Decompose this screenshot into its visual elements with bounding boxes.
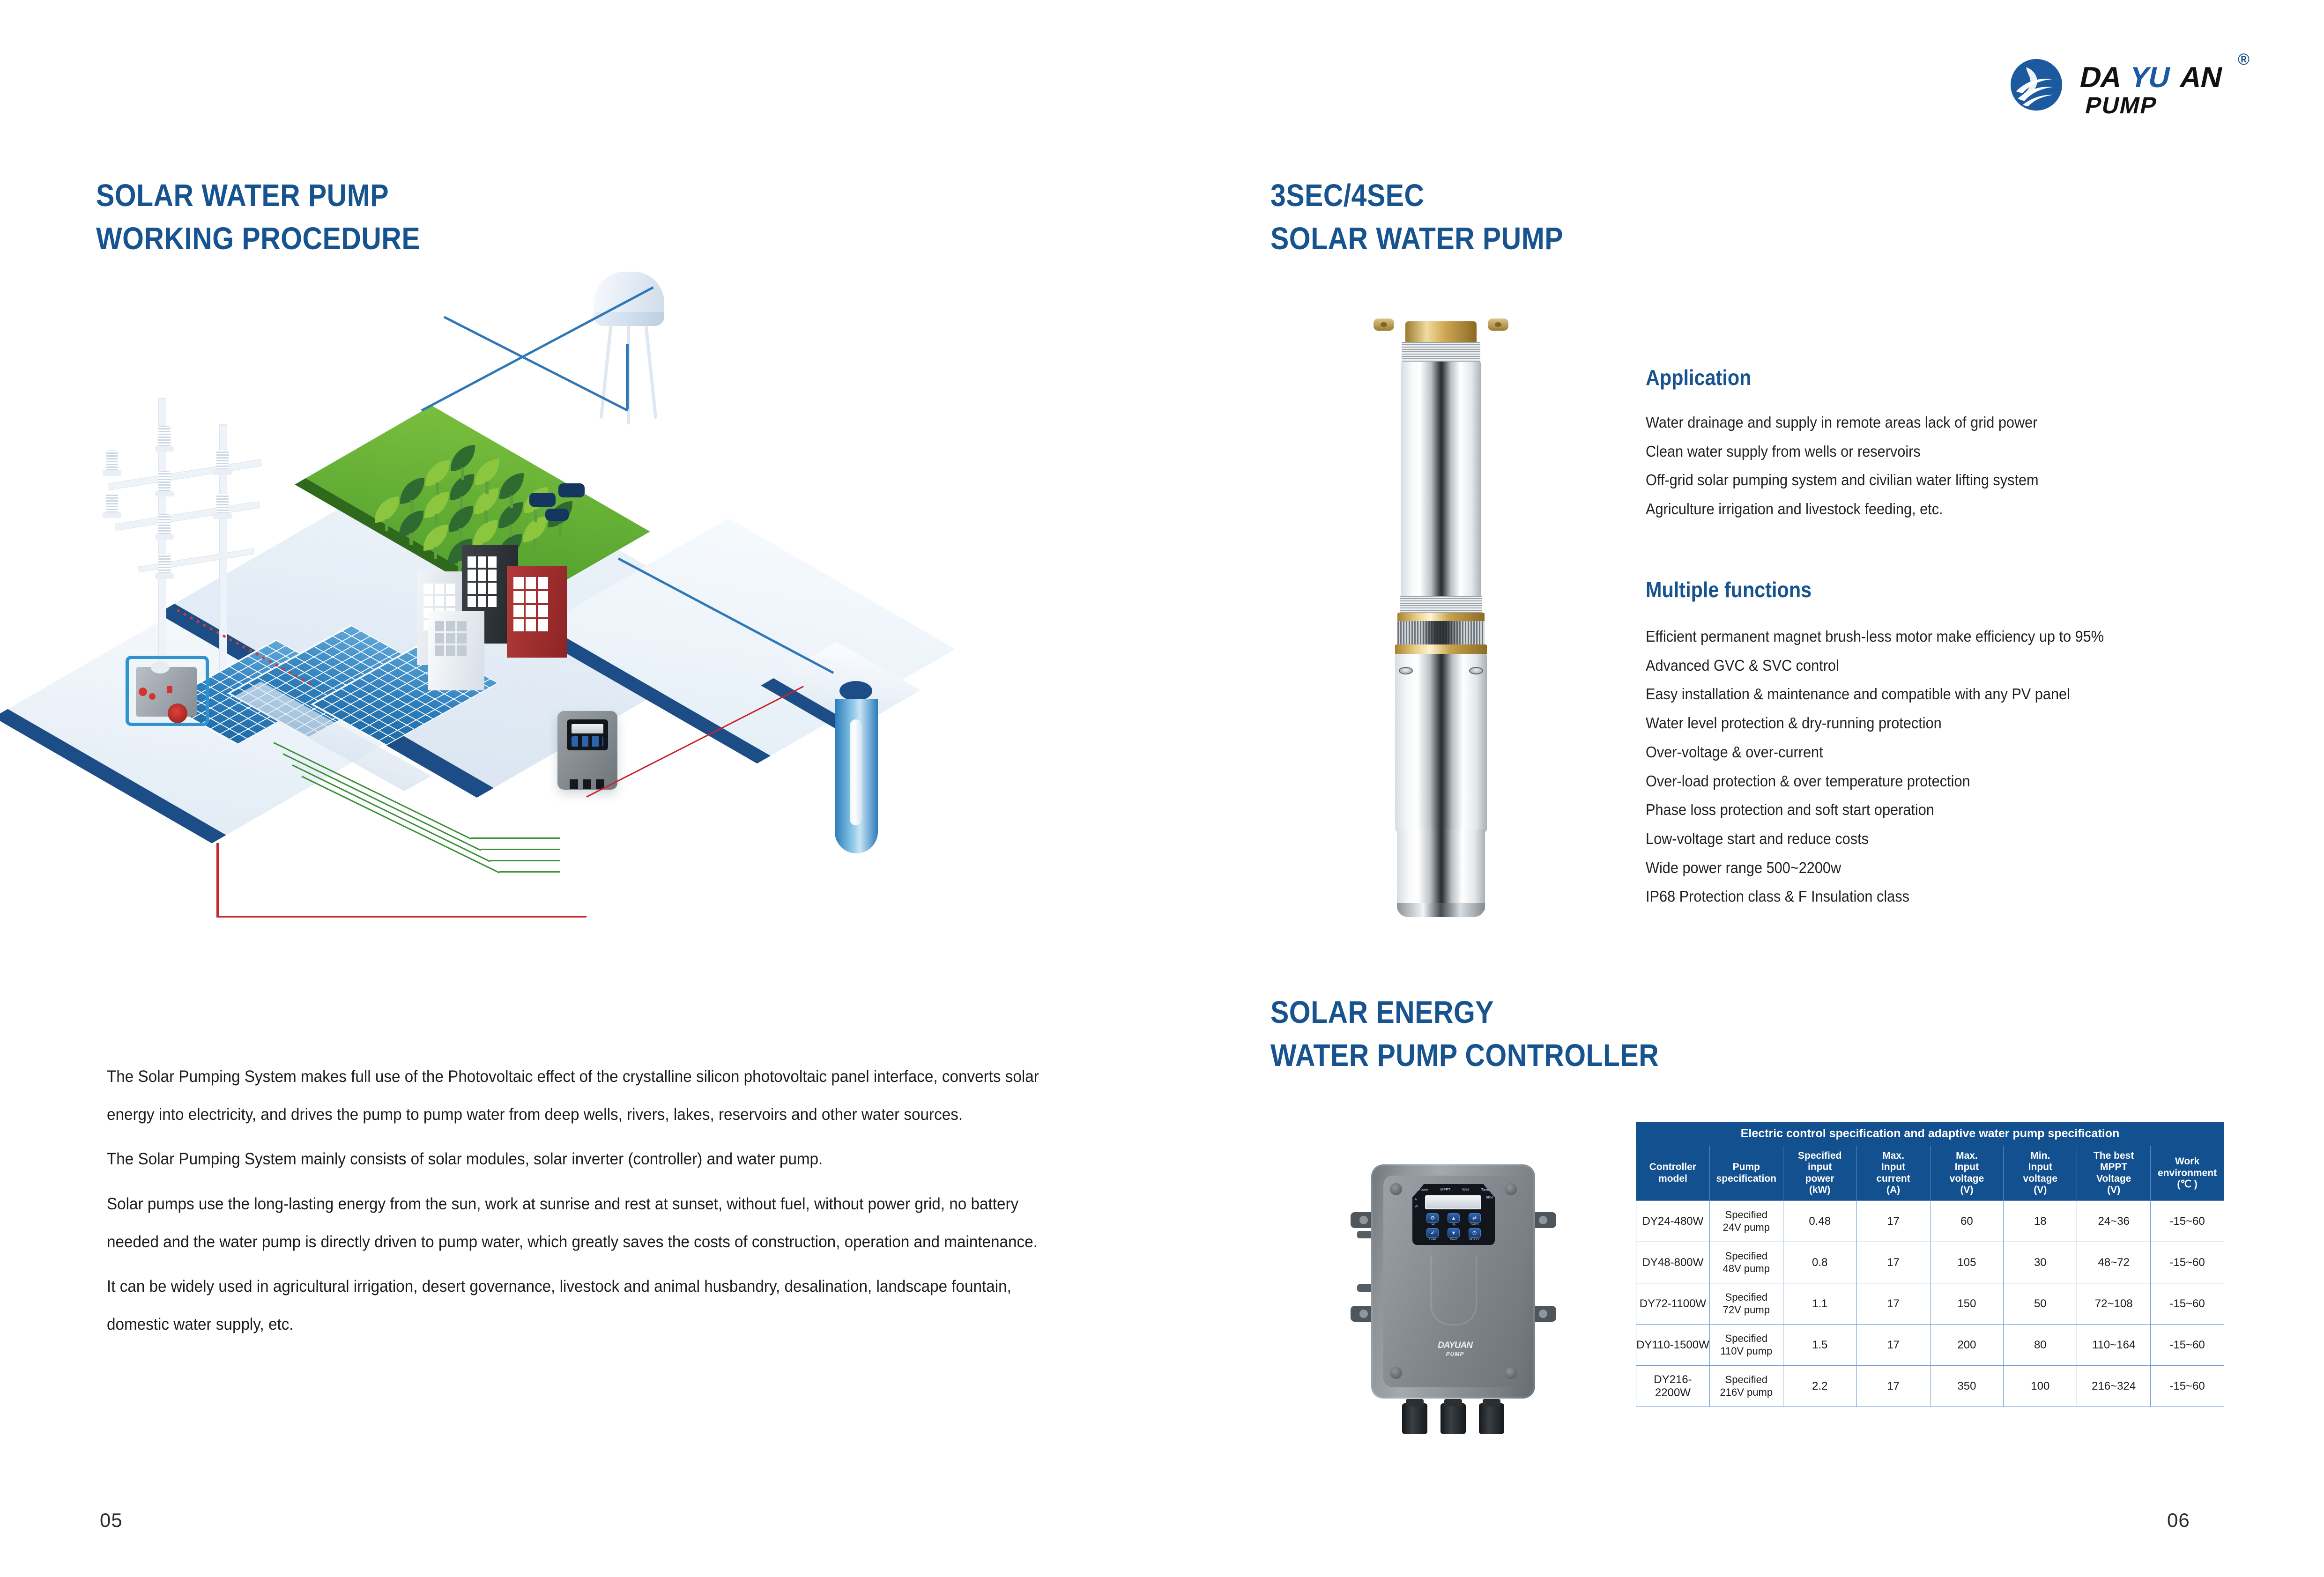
power-icon: ⏻ <box>1469 1228 1481 1238</box>
col-mppt-voltage: The best MPPT Voltage (V) <box>2077 1146 2151 1201</box>
cell-pump-spec: Specified 110V pump <box>1709 1325 1783 1366</box>
cell-env: -15~60 <box>2151 1283 2224 1325</box>
lcd-display <box>1425 1195 1481 1209</box>
table-row: DY24-480W Specified 24V pump 0.48 17 60 … <box>1636 1201 2224 1242</box>
cell-power: 1.5 <box>1783 1325 1856 1366</box>
cable-gland-2 <box>1440 1403 1466 1434</box>
cell-vmin: 30 <box>2004 1242 2077 1283</box>
cell-pump-spec: Specified 24V pump <box>1709 1201 1783 1242</box>
cell-current: 17 <box>1856 1201 1930 1242</box>
cell-vmin: 50 <box>2004 1283 2077 1325</box>
col-input-current: Max. Input current (A) <box>1856 1146 1930 1201</box>
bolt-tr <box>1505 1183 1517 1195</box>
control-panel: Power MPPT Well Tank A W RPM ⚙ Set ▲ Up <box>1412 1184 1495 1245</box>
pump-cable-vertical <box>216 843 219 917</box>
col-controller-model: Controller model <box>1636 1146 1710 1201</box>
controller-section-title: SOLAR ENERGY WATER PUMP CONTROLLER <box>1270 991 1930 1078</box>
table-row: DY72-1100W Specified 72V pump 1.1 17 150… <box>1636 1283 2224 1325</box>
paragraph-4: It can be widely used in agricultural ir… <box>107 1267 1055 1343</box>
functions-heading: Multiple functions <box>1646 577 1812 602</box>
key-down[interactable]: ▼ Down <box>1445 1228 1463 1241</box>
function-item: Over-voltage & over-current <box>1646 738 2282 767</box>
svg-text:AN: AN <box>2177 61 2225 94</box>
cell-model: DY48-800W <box>1636 1242 1710 1283</box>
application-heading: Application <box>1646 365 1751 390</box>
arrow-down-icon: ▼ <box>1448 1228 1460 1238</box>
cell-mppt: 72~108 <box>2077 1283 2151 1325</box>
cell-model: DY72-1100W <box>1636 1283 1710 1325</box>
cell-pump-spec: Specified 72V pump <box>1709 1283 1783 1325</box>
bolt-bl <box>1390 1367 1402 1379</box>
table-row: DY110-1500W Specified 110V pump 1.5 17 2… <box>1636 1325 2224 1366</box>
cell-current: 17 <box>1856 1283 1930 1325</box>
application-item: Off-grid solar pumping system and civili… <box>1646 466 2265 495</box>
cell-vmax: 200 <box>1930 1325 2004 1366</box>
cell-mppt: 24~36 <box>2077 1201 2151 1242</box>
function-item: Advanced GVC & SVC control <box>1646 651 2282 680</box>
key-switch[interactable]: ⇄ Switch <box>1465 1213 1484 1226</box>
cell-mppt: 216~324 <box>2077 1366 2151 1407</box>
function-item: Phase loss protection and soft start ope… <box>1646 795 2282 824</box>
bolt-tl <box>1390 1183 1402 1195</box>
pv-cable-3h <box>490 860 560 861</box>
key-up[interactable]: ▲ Up <box>1445 1213 1463 1226</box>
page-title-right: 3SEC/4SEC SOLAR WATER PUMP <box>1270 174 1889 261</box>
water-pipe <box>626 344 629 409</box>
controller-brand-mark: DAYUAN PUMP <box>1429 1340 1481 1357</box>
cell-power: 2.2 <box>1783 1366 1856 1407</box>
cell-vmin: 100 <box>2004 1366 2077 1407</box>
cell-env: -15~60 <box>2151 1201 2224 1242</box>
cell-pump-spec: Specified 216V pump <box>1709 1366 1783 1407</box>
function-item: Easy installation & maintenance and comp… <box>1646 680 2282 709</box>
led-mppt: MPPT <box>1440 1187 1451 1192</box>
submersible-pump-photo <box>1358 317 1524 944</box>
unit-rpm: RPM <box>1485 1196 1493 1199</box>
solar-pump-controller-photo: Power MPPT Well Tank A W RPM ⚙ Set ▲ Up <box>1347 1157 1560 1447</box>
pump-cable-horizontal <box>216 916 587 918</box>
col-work-environment: Work environment (℃ ) <box>2151 1146 2224 1201</box>
paragraph-2: The Solar Pumping System mainly consists… <box>107 1140 1055 1178</box>
cell-vmax: 60 <box>1930 1201 2004 1242</box>
solar-pumping-system-diagram <box>94 328 1120 984</box>
cell-pump-spec: Specified 48V pump <box>1709 1242 1783 1283</box>
function-item: Water level protection & dry-running pro… <box>1646 709 2282 738</box>
status-led-row: Power MPPT Well Tank <box>1412 1187 1495 1192</box>
col-min-input-voltage: Min. Input voltage (V) <box>2004 1146 2077 1201</box>
pv-cable-2h <box>481 849 560 850</box>
cell-current: 17 <box>1856 1325 1930 1366</box>
col-input-power: Specified input power (kW) <box>1783 1146 1856 1201</box>
function-item: IP68 Protection class & F Insulation cla… <box>1646 882 2282 911</box>
pv-cable-1h <box>471 837 560 839</box>
key-enter[interactable]: ✔ Enter <box>1424 1228 1442 1241</box>
cell-vmin: 80 <box>2004 1325 2077 1366</box>
deep-well-borehole <box>786 649 927 865</box>
dayuan-logo: DA YU AN PUMP ® <box>2009 51 2252 121</box>
bolt-br <box>1505 1367 1517 1379</box>
function-item: Wide power range 500~2200w <box>1646 853 2282 882</box>
arrow-up-icon: ▲ <box>1448 1213 1460 1223</box>
page-title-left: SOLAR WATER PUMP WORKING PROCEDURE <box>96 174 714 261</box>
switch-arrows-icon: ⇄ <box>1469 1213 1481 1223</box>
unit-watt: W <box>1415 1203 1418 1210</box>
table-body: DY24-480W Specified 24V pump 0.48 17 60 … <box>1636 1201 2224 1407</box>
led-well: Well <box>1463 1187 1470 1192</box>
cell-vmax: 350 <box>1930 1366 2004 1407</box>
functions-list: Efficient permanent magnet brush-less mo… <box>1646 622 2282 911</box>
office-buildings <box>417 529 642 707</box>
application-item: Agriculture irrigation and livestock fee… <box>1646 495 2265 524</box>
cell-vmax: 105 <box>1930 1242 2004 1283</box>
col-pump-spec: Pump specification <box>1709 1146 1783 1201</box>
registered-trademark-icon: ® <box>2238 51 2250 69</box>
keypad[interactable]: ⚙ Set ▲ Up ⇄ Switch ✔ Enter ▼ Down <box>1424 1213 1484 1241</box>
cell-vmin: 18 <box>2004 1201 2077 1242</box>
col-max-input-voltage: Max. Input voltage (V) <box>1930 1146 2004 1201</box>
gear-icon: ⚙ <box>1426 1213 1439 1223</box>
table-caption: Electric control specification and adapt… <box>1636 1123 2224 1146</box>
cell-mppt: 110~164 <box>2077 1325 2151 1366</box>
table-header-row: Controller model Pump specification Spec… <box>1636 1146 2224 1201</box>
cell-env: -15~60 <box>2151 1242 2224 1283</box>
cell-power: 0.48 <box>1783 1201 1856 1242</box>
pv-cable-4h <box>499 871 560 873</box>
paragraph-1: The Solar Pumping System makes full use … <box>107 1058 1055 1133</box>
diesel-generator <box>118 651 226 745</box>
function-item: Over-load protection & over temperature … <box>1646 767 2282 796</box>
svg-text:DA: DA <box>2077 61 2125 94</box>
cell-model: DY24-480W <box>1636 1201 1710 1242</box>
brochure-page: DA YU AN PUMP ® SOLAR WATER PUMP WORKING… <box>0 0 2324 1577</box>
page-number-right: 06 <box>2167 1509 2190 1532</box>
cable-gland-1 <box>1402 1403 1427 1434</box>
spec-table: Electric control specification and adapt… <box>1636 1122 2224 1407</box>
cows-livestock <box>529 477 604 533</box>
key-set[interactable]: ⚙ Set <box>1424 1213 1442 1226</box>
housing-groove <box>1430 1255 1477 1325</box>
unit-ampere: A <box>1415 1196 1418 1203</box>
table-row: DY216-2200W Specified 216V pump 2.2 17 3… <box>1636 1366 2224 1407</box>
function-item: Efficient permanent magnet brush-less mo… <box>1646 622 2282 651</box>
table-row: DY48-800W Specified 48V pump 0.8 17 105 … <box>1636 1242 2224 1283</box>
body-copy: The Solar Pumping System makes full use … <box>107 1058 1055 1350</box>
page-number-left: 05 <box>100 1509 123 1532</box>
application-item: Clean water supply from wells or reservo… <box>1646 437 2265 466</box>
wave-circle-icon <box>2009 57 2064 112</box>
svg-text:YU: YU <box>2127 61 2173 94</box>
cell-power: 1.1 <box>1783 1283 1856 1325</box>
cell-current: 17 <box>1856 1242 1930 1283</box>
cell-mppt: 48~72 <box>2077 1242 2151 1283</box>
function-item: Low-voltage start and reduce costs <box>1646 824 2282 853</box>
cell-model: DY216-2200W <box>1636 1366 1710 1407</box>
paragraph-3: Solar pumps use the long-lasting energy … <box>107 1185 1055 1261</box>
cell-model: DY110-1500W <box>1636 1325 1710 1366</box>
dayuan-wordmark: DA YU AN PUMP <box>2069 53 2256 119</box>
cell-env: -15~60 <box>2151 1325 2224 1366</box>
cell-current: 17 <box>1856 1366 1930 1407</box>
solar-pump-controller-iso <box>557 711 617 790</box>
unit-labels-left: A W <box>1415 1196 1418 1211</box>
cell-vmax: 150 <box>1930 1283 2004 1325</box>
svg-text:PUMP: PUMP <box>2083 92 2160 118</box>
cell-power: 0.8 <box>1783 1242 1856 1283</box>
application-item: Water drainage and supply in remote area… <box>1646 408 2265 437</box>
cell-env: -15~60 <box>2151 1366 2224 1407</box>
key-onoff[interactable]: ⏻ NO/OFF <box>1465 1228 1484 1241</box>
application-list: Water drainage and supply in remote area… <box>1646 408 2265 524</box>
cable-gland-3 <box>1479 1403 1504 1434</box>
check-icon: ✔ <box>1426 1228 1439 1238</box>
